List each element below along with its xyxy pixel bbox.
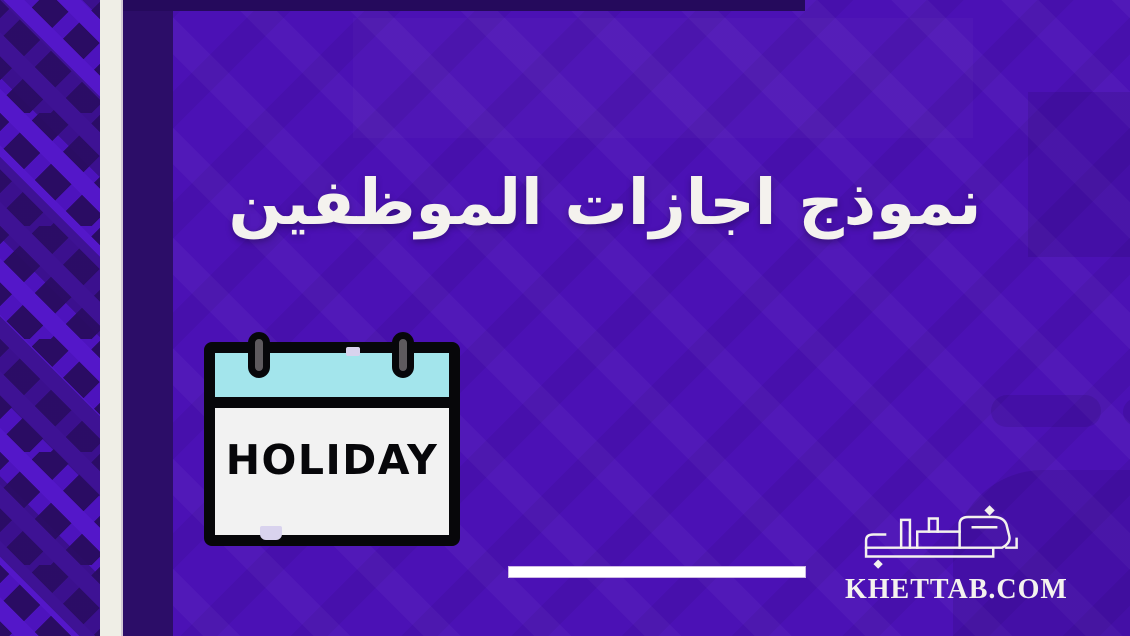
- cream-divider-strip: [100, 0, 123, 636]
- calendar-illustration: HOLIDAY: [196, 316, 468, 548]
- brand-domain-text: KHETTAB.COM: [845, 574, 1045, 606]
- calendar-bottom-notch: [260, 526, 282, 540]
- accent-bar: [508, 566, 806, 578]
- decorative-block-top: [353, 18, 973, 138]
- calendar-header-rule: [215, 397, 449, 408]
- calendar-top-notch: [346, 347, 360, 356]
- decorative-pill-5: [1123, 398, 1130, 426]
- cover-image: نموذج اجازات الموظفين HOLIDAY: [0, 0, 1130, 636]
- top-dark-bar: [123, 0, 805, 11]
- calendar-ring-right-icon: [392, 332, 414, 378]
- decorative-block-1: [1028, 92, 1130, 257]
- page-title: نموذج اجازات الموظفين: [190, 168, 1020, 239]
- navy-vertical-band: [123, 0, 173, 636]
- herringbone-pattern-strip: [0, 0, 100, 636]
- diacritic-dots: [873, 505, 994, 569]
- brand-logo: KHETTAB.COM: [845, 502, 1045, 606]
- decorative-pill-4: [991, 395, 1101, 427]
- khettab-arabic-wordmark-icon: [850, 502, 1040, 570]
- calendar-ring-left-icon: [248, 332, 270, 378]
- calendar-label: HOLIDAY: [215, 436, 449, 484]
